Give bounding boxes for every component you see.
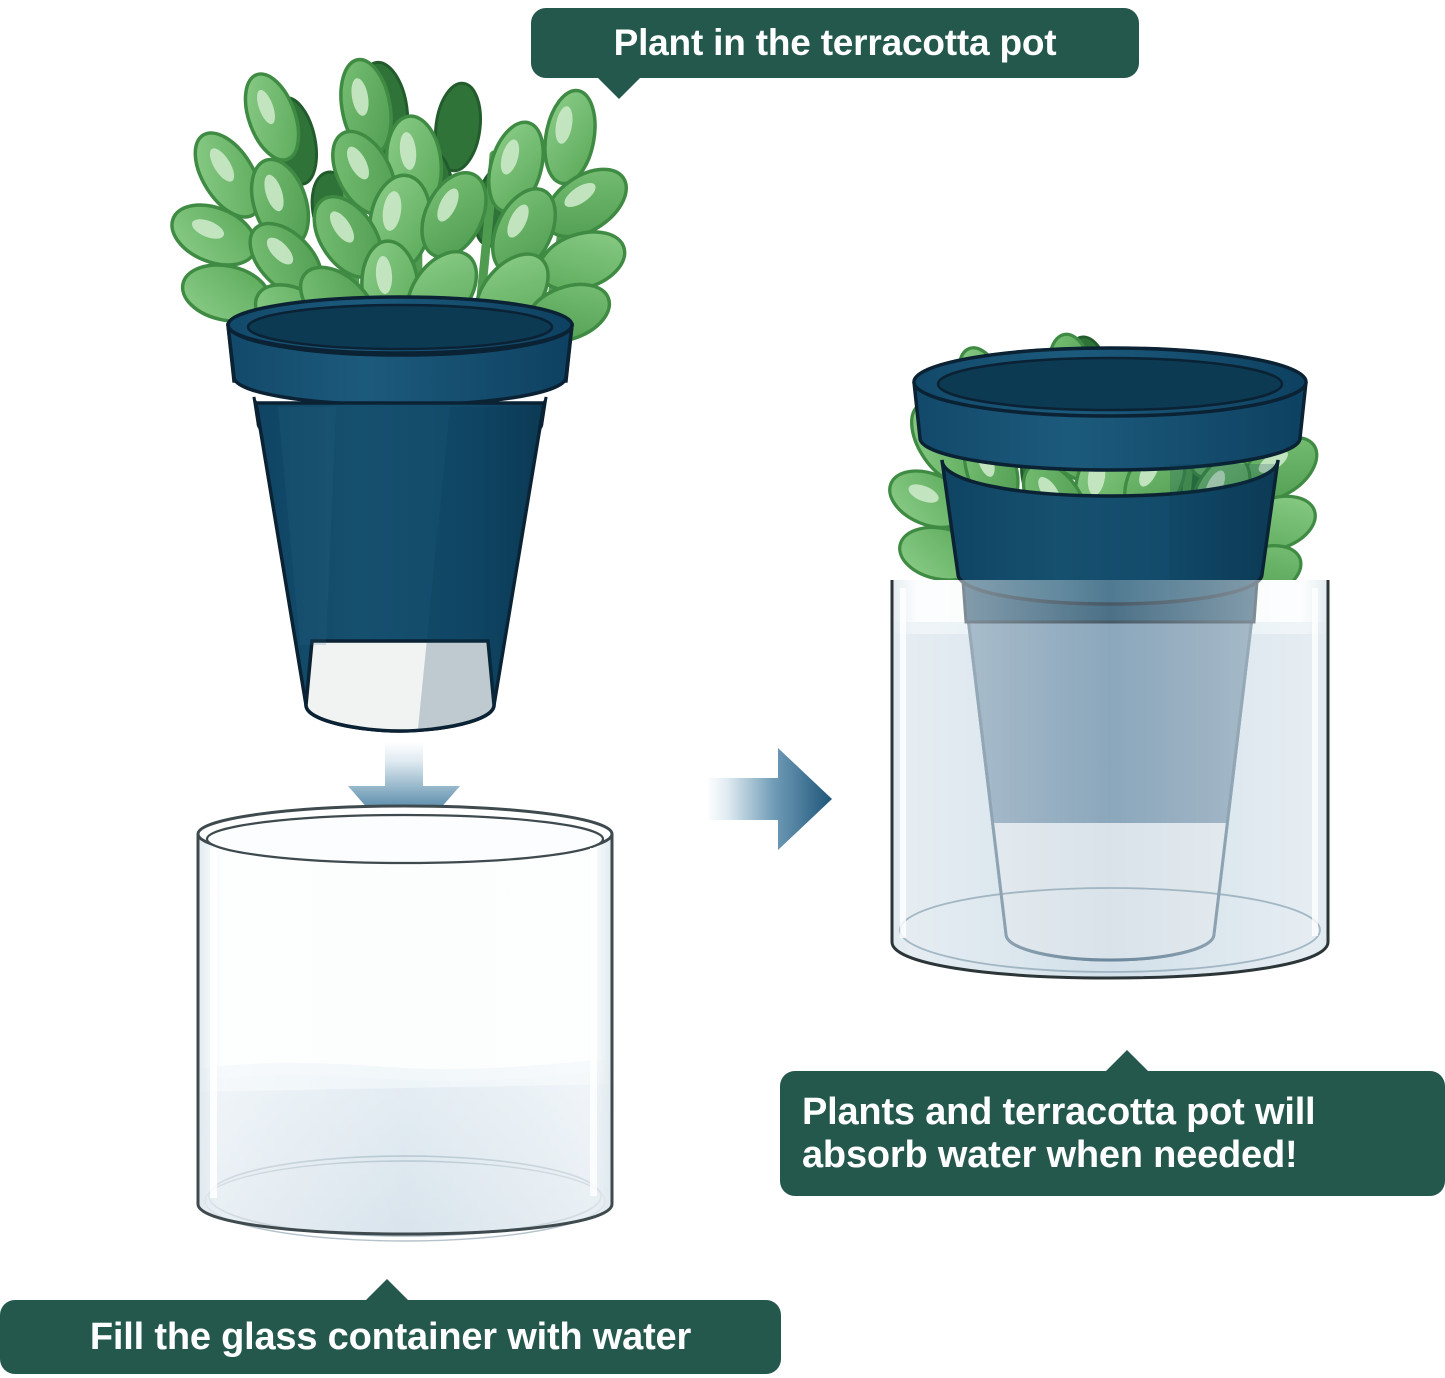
- caption-right-line1: Plants and terracotta pot will: [802, 1091, 1315, 1134]
- jar-rim-inner: [207, 815, 603, 863]
- terracotta-pot: [228, 297, 572, 731]
- right-arrow-shape: [706, 748, 832, 850]
- right-arrow: [706, 746, 834, 852]
- assembled-planter-illustration: [870, 330, 1350, 1030]
- caption-top-text: Plant in the terracotta pot: [614, 22, 1057, 63]
- caption-plant-in-pot: Plant in the terracotta pot: [531, 8, 1139, 78]
- caption-right-tail: [1105, 1050, 1149, 1072]
- caption-top-tail: [597, 77, 641, 99]
- caption-right-line2: absorb water when needed!: [802, 1134, 1297, 1177]
- glass-container-illustration: [190, 808, 620, 1238]
- plant-in-pot-illustration: [150, 45, 650, 735]
- pot-soil-opening: [938, 358, 1282, 410]
- scene-assembled-planter: [870, 330, 1350, 1030]
- caption-bottom-left-tail: [365, 1279, 409, 1301]
- glass-sheen: [892, 580, 1328, 978]
- infographic-canvas: Plant in the terracotta pot Fill the gla…: [0, 0, 1445, 1378]
- scene-glass-container: [190, 808, 620, 1238]
- caption-bottom-left-text: Fill the glass container with water: [90, 1316, 691, 1359]
- caption-absorb-water: Plants and terracotta pot will absorb wa…: [780, 1071, 1445, 1196]
- caption-fill-glass: Fill the glass container with water: [0, 1300, 781, 1374]
- scene-plant-in-pot: [150, 45, 650, 735]
